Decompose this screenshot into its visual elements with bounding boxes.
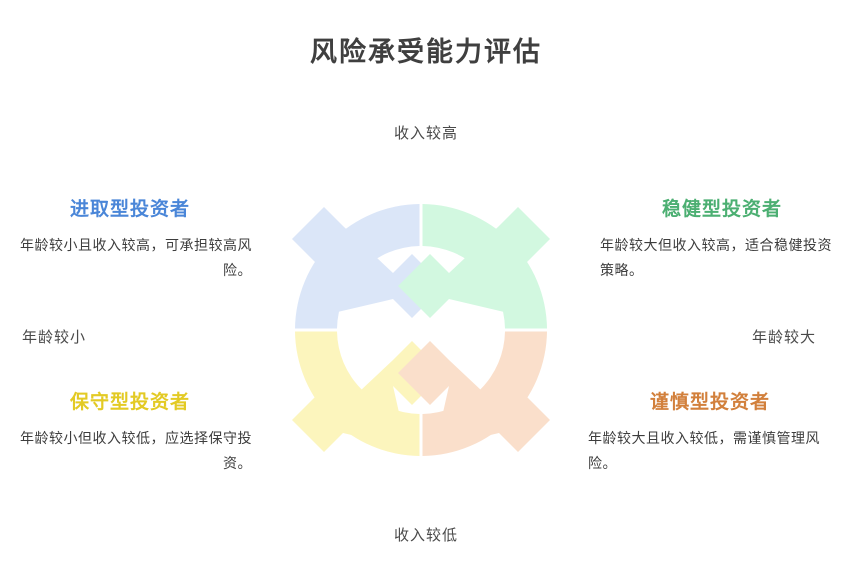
axis-label-income-high: 收入较高	[0, 122, 852, 143]
ring-svg	[261, 170, 581, 490]
quadrant-description-top-right: 年龄较大但收入较高，适合稳健投资策略。	[600, 235, 844, 284]
quadrant-description-top-left: 年龄较小且收入较高，可承担较高风险。	[8, 235, 252, 284]
quadrant-arc-top-right	[398, 204, 550, 329]
quadrant-title-top-right: 稳健型投资者	[600, 194, 844, 221]
axis-label-age-old: 年龄较大	[752, 326, 816, 347]
quadrant-title-top-left: 进取型投资者	[8, 194, 252, 221]
quadrant-title-bottom-right: 谨慎型投资者	[588, 387, 832, 414]
quadrant-text-bottom-left: 保守型投资者 年龄较小但收入较低，应选择保守投资。	[8, 387, 252, 477]
risk-assessment-figure: 风险承受能力评估 收入较高 收入较低 年龄较小 年龄较大	[0, 0, 852, 567]
quadrant-description-bottom-right: 年龄较大且收入较低，需谨慎管理风险。	[588, 428, 832, 477]
quadrant-text-top-left: 进取型投资者 年龄较小且收入较高，可承担较高风险。	[8, 194, 252, 284]
quadrant-text-bottom-right: 谨慎型投资者 年龄较大且收入较低，需谨慎管理风险。	[588, 387, 832, 477]
axis-label-income-low: 收入较低	[0, 524, 852, 545]
quadrant-text-top-right: 稳健型投资者 年龄较大但收入较高，适合稳健投资策略。	[600, 194, 844, 284]
quadrant-description-bottom-left: 年龄较小但收入较低，应选择保守投资。	[8, 428, 252, 477]
axis-label-age-young: 年龄较小	[22, 326, 86, 347]
quadrant-title-bottom-left: 保守型投资者	[8, 387, 252, 414]
page-title: 风险承受能力评估	[0, 30, 852, 69]
